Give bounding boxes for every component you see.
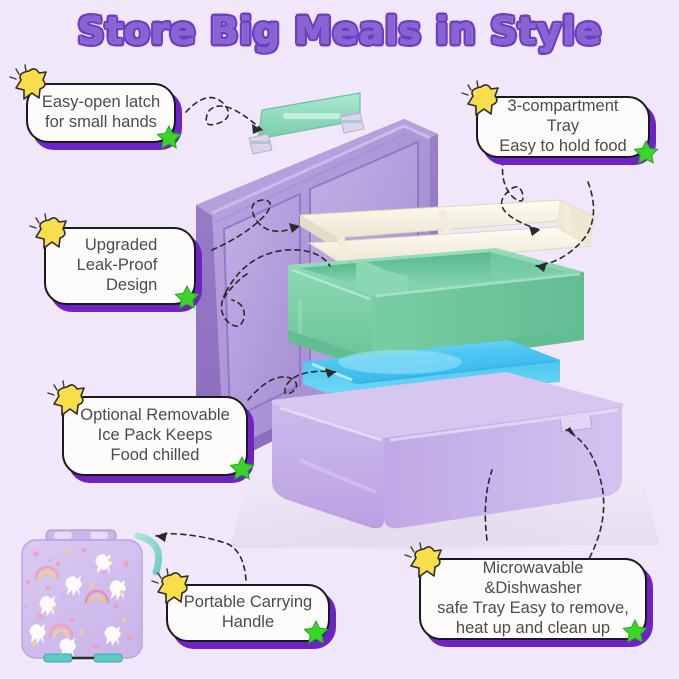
silicone-seal-frame [300,200,596,266]
callout-upgraded-leak-proof-text: Upgraded Leak-Proof Design [77,236,158,295]
callout-portable-carrying-handle-text: Portable Carrying Handle [184,593,312,633]
callout-microwavable-dishwasher-safe[interactable]: Microwavable &Dishwasher safe Tray Easy … [419,558,647,640]
callout-upgraded-leak-proof[interactable]: Upgraded Leak-Proof Design [44,227,196,305]
base-container [272,372,624,528]
callout-three-compartment-tray-text: 3-compartment Tray Easy to hold food [490,97,636,156]
infographic-canvas: Store Big Meals in Style [0,0,679,679]
three-compartment-tray [288,248,584,370]
callout-removable-ice-pack-text: Optional Removable Ice Pack Keeps Food c… [80,406,230,465]
callout-microwavable-dishwasher-safe-text: Microwavable &Dishwasher safe Tray Easy … [433,559,633,638]
ice-pack [303,340,560,404]
closed-unicorn-lunch-box [6,520,181,675]
callout-three-compartment-tray[interactable]: 3-compartment Tray Easy to hold food [476,96,650,158]
callout-portable-carrying-handle[interactable]: Portable Carrying Handle [166,584,330,642]
callout-easy-open-latch-text: Easy-open latch for small hands [42,93,160,133]
latch-handle [249,93,364,154]
callout-removable-ice-pack[interactable]: Optional Removable Ice Pack Keeps Food c… [62,396,248,476]
callout-easy-open-latch[interactable]: Easy-open latch for small hands [26,83,176,143]
page-title: Store Big Meals in Style [0,9,679,53]
